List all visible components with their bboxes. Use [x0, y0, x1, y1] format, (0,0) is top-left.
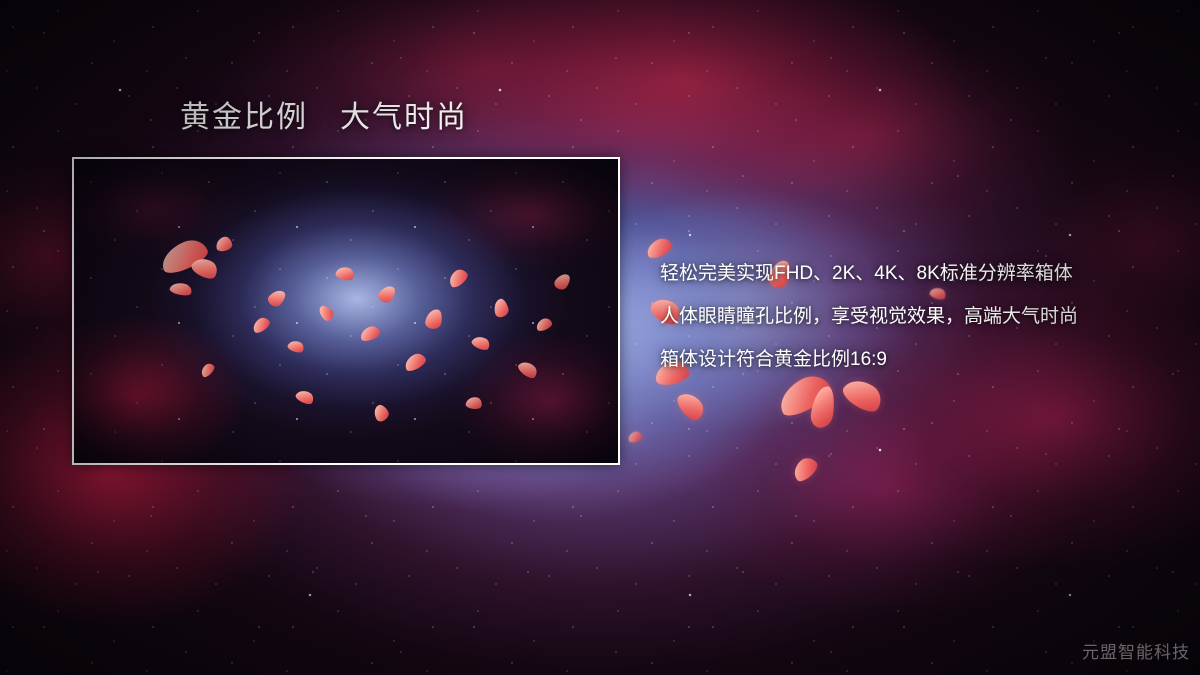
watermark: 元盟智能科技 [1082, 638, 1190, 663]
page-title: 黄金比例 大气时尚 [180, 101, 468, 134]
petal-decoration [627, 430, 643, 443]
inner-image-vignette [74, 159, 618, 463]
petal-decoration [789, 454, 820, 485]
feature-description: 轻松完美实现FHD、2K、4K、8K标准分辨率箱体 人体眼睛瞳孔比例，享受视觉效… [660, 252, 1180, 381]
feature-line-3: 箱体设计符合黄金比例16:9 [660, 338, 1180, 381]
presentation-slide: 黄金比例 大气时尚 [0, 0, 1200, 675]
product-image [74, 159, 618, 463]
feature-line-2: 人体眼睛瞳孔比例，享受视觉效果，高端大气时尚 [660, 295, 1180, 338]
feature-line-1: 轻松完美实现FHD、2K、4K、8K标准分辨率箱体 [660, 252, 1180, 295]
product-image-frame[interactable] [72, 157, 620, 465]
petal-decoration [674, 388, 708, 424]
